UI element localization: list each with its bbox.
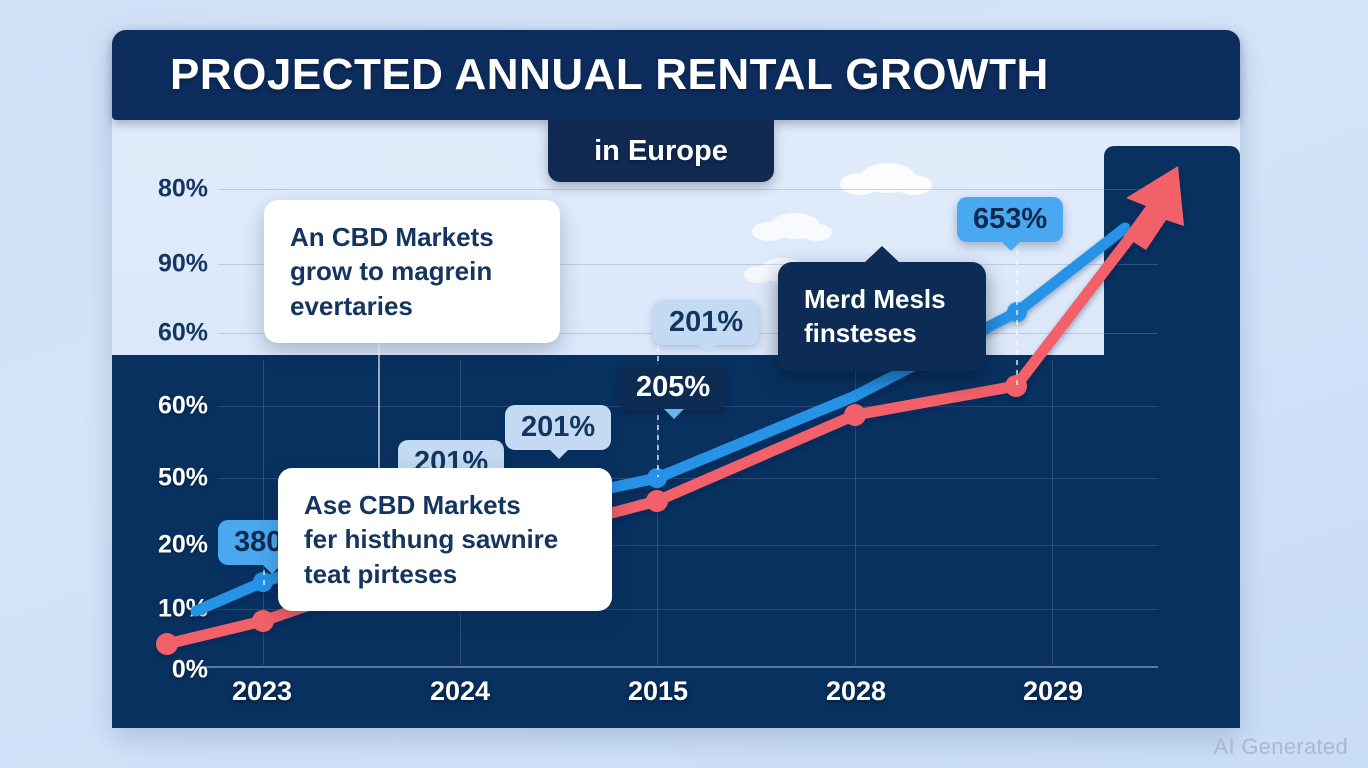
callout-mid-left: Ase CBD Markets fer histhung sawnire tea… <box>278 468 612 611</box>
badge-tail-icon <box>664 409 684 419</box>
y-tick-label: 10% <box>158 595 208 624</box>
y-tick-label: 60% <box>158 392 208 421</box>
data-label-text: 201% <box>669 306 743 339</box>
gridline <box>218 189 1158 190</box>
callout-line-3: evertaries <box>290 289 534 323</box>
x-tick-label: 2028 <box>826 676 886 707</box>
chart-screenshot: 80% 90% 60% 60% 50% 20% 10% 0% 2023 2024… <box>0 0 1368 768</box>
vertical-gridline <box>855 360 856 665</box>
leader-line <box>1016 240 1018 386</box>
callout-line-2: grow to magrein <box>290 254 534 288</box>
chart-title-bar: PROJECTED ANNUAL RENTAL GROWTH <box>112 30 1240 120</box>
callout-line-1: An CBD Markets <box>290 220 534 254</box>
data-label-badge: 201% <box>653 300 759 345</box>
data-label-text: 653% <box>973 203 1047 236</box>
chart-subtitle: in Europe <box>594 135 728 168</box>
y-tick-label: 60% <box>158 319 208 348</box>
watermark-label: AI Generated <box>1214 734 1348 760</box>
data-label-badge: 205% <box>620 365 726 410</box>
plot-area-right-block <box>1104 146 1240 728</box>
y-tick-label: 80% <box>158 175 208 204</box>
data-label-text: 205% <box>636 371 710 404</box>
callout-pointer-icon <box>864 246 900 263</box>
callout-top-left: An CBD Markets grow to magrein evertarie… <box>264 200 560 343</box>
y-tick-label: 90% <box>158 250 208 279</box>
vertical-gridline <box>1052 360 1053 665</box>
x-tick-label: 2029 <box>1023 676 1083 707</box>
badge-tail-icon <box>549 449 569 459</box>
x-axis-line <box>196 666 1158 668</box>
chart-subtitle-tab: in Europe <box>548 120 774 182</box>
x-tick-label: 2024 <box>430 676 490 707</box>
callout-line-1: Merd Mesls <box>804 282 960 316</box>
page-title: PROJECTED ANNUAL RENTAL GROWTH <box>170 50 1049 100</box>
callout-navy-right: Merd Mesls finsteses <box>778 262 986 371</box>
leader-line <box>657 415 659 477</box>
vertical-gridline <box>263 360 264 665</box>
callout-line-2: finsteses <box>804 316 960 350</box>
cloud-icon <box>770 213 820 239</box>
callout-line-2: fer histhung sawnire <box>304 522 586 556</box>
y-tick-label: 20% <box>158 531 208 560</box>
badge-tail-icon <box>697 344 717 354</box>
data-label-badge: 653% <box>957 197 1063 242</box>
data-label-text: 201% <box>521 411 595 444</box>
callout-line-1: Ase CBD Markets <box>304 488 586 522</box>
x-tick-label: 2015 <box>628 676 688 707</box>
badge-tail-icon <box>1001 241 1021 251</box>
y-tick-label: 50% <box>158 464 208 493</box>
callout-line-3: teat pirteses <box>304 557 586 591</box>
x-tick-label: 2023 <box>232 676 292 707</box>
data-label-badge: 201% <box>505 405 611 450</box>
y-tick-label: 0% <box>172 656 208 685</box>
